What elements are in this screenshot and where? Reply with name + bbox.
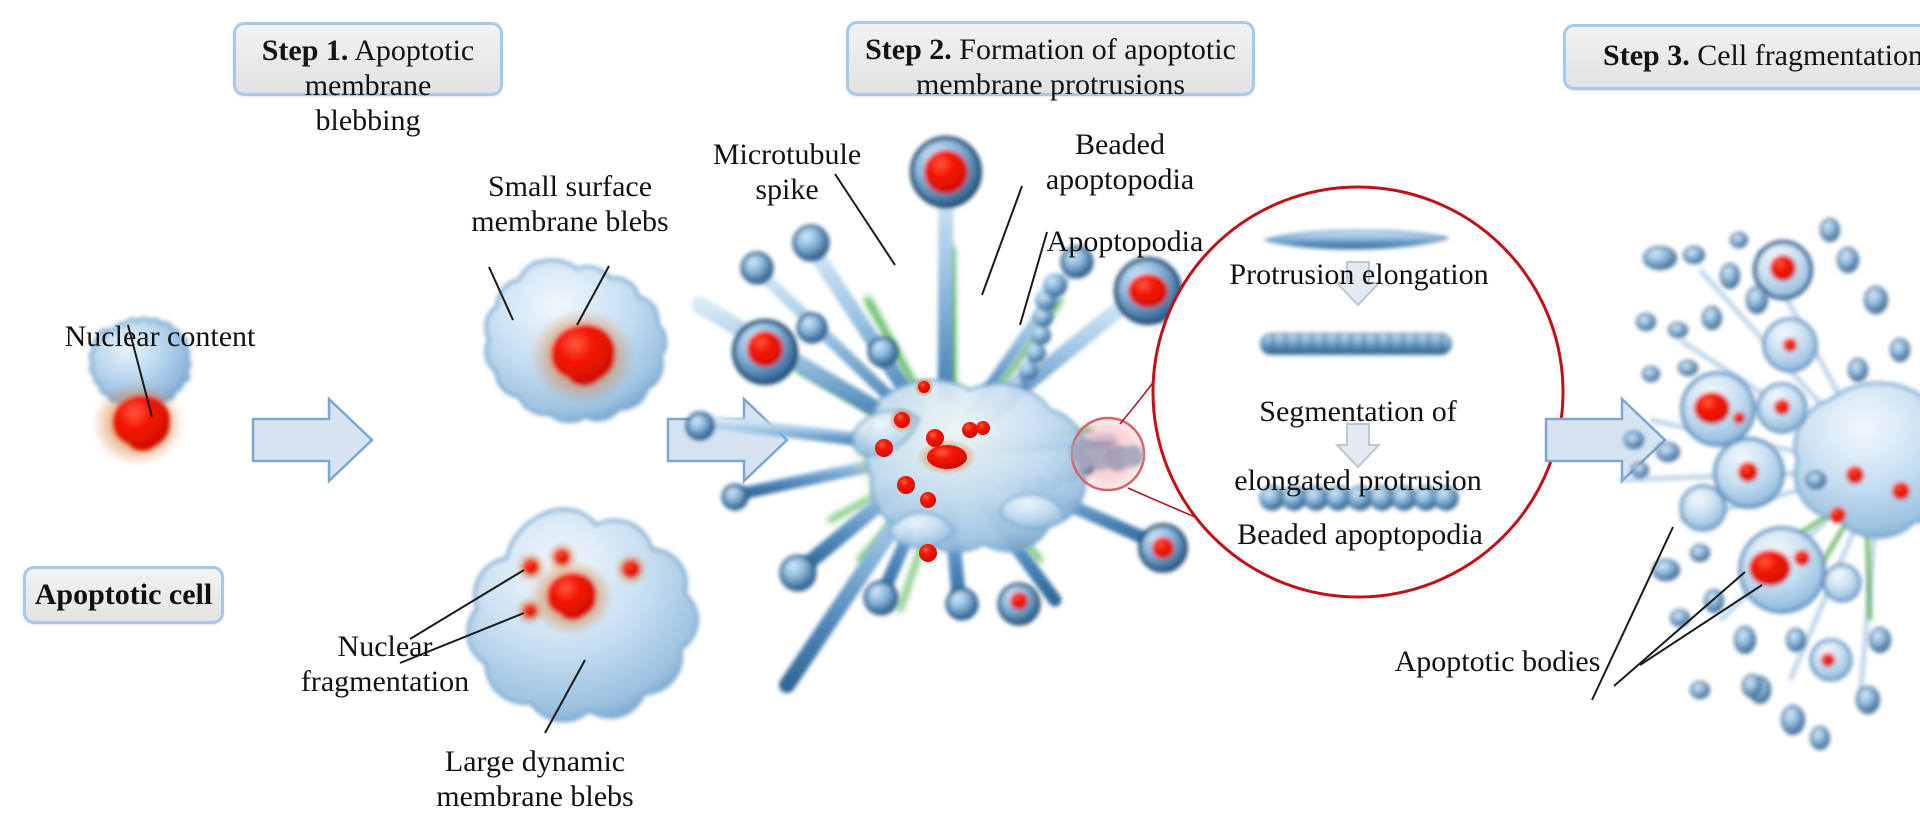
step-2-title-line1: Formation of apoptotic	[959, 33, 1236, 66]
apoptotic-cell-caption[interactable]: Apoptotic cell	[23, 566, 224, 624]
leader-large-blebs	[545, 660, 585, 733]
diagram-artwork	[0, 0, 1920, 828]
inset-highlight-marker	[1070, 418, 1144, 490]
label-beaded-apoptopodia: Beaded apoptopodia	[1030, 128, 1210, 197]
beaded-apoptopodia-strands	[950, 273, 1095, 493]
small-bleb-cell	[486, 260, 666, 421]
flow-arrow-3	[1546, 399, 1665, 481]
step-3-number: Step 3.	[1603, 39, 1690, 72]
step-2-number: Step 2.	[865, 33, 952, 66]
diagram-canvas: Step 1. Apoptotic membrane blebbing Step…	[0, 0, 1920, 828]
label-apoptotic-bodies: Apoptotic bodies	[1385, 645, 1610, 680]
apoptopodia-cell-body	[853, 380, 1085, 551]
fragmented-cell-bodies	[1620, 219, 1920, 749]
label-nuclear-content: Nuclear content	[40, 320, 280, 355]
large-bleb-cell	[468, 509, 697, 721]
label-apoptopodia: Apoptopodia	[1040, 225, 1210, 260]
label-small-surface-blebs: Small surface membrane blebs	[465, 170, 675, 239]
label-large-dynamic-blebs: Large dynamic membrane blebs	[425, 745, 645, 814]
leader-apoptotic-bodies-c	[1640, 585, 1762, 665]
step-header-3[interactable]: Step 3. Cell fragmentation	[1563, 24, 1920, 90]
inset-caption-stage-2: Segmentation of elongated protrusion	[1198, 360, 1518, 498]
step-1-title-line1: Apoptotic	[354, 34, 474, 67]
protrusion-tips	[687, 138, 1186, 624]
step-3-title: Cell fragmentation	[1690, 39, 1920, 72]
flow-arrow-2	[668, 399, 787, 481]
core-nuclear-fragments	[875, 377, 990, 562]
label-nuclear-fragmentation: Nuclear fragmentation	[285, 630, 485, 699]
step-1-title-line2: membrane blebbing	[305, 69, 432, 137]
inset-caption-stage-3: Beaded apoptopodia	[1200, 518, 1520, 553]
leader-small-blebs-b	[577, 266, 609, 325]
leader-apoptotic-bodies-b	[1614, 572, 1745, 686]
step-header-2[interactable]: Step 2. Formation of apoptotic membrane …	[846, 21, 1255, 96]
step-2-title-line2: membrane protrusions	[916, 68, 1185, 101]
leader-nuclear-frag-a	[410, 570, 524, 639]
leader-beaded-apoptopodia	[982, 186, 1022, 295]
apoptopodia-cell	[687, 138, 1186, 685]
step-1-number: Step 1.	[262, 34, 349, 67]
inset-stage-2-graphic	[1261, 334, 1451, 354]
inset-caption-stage-2-line1: Segmentation of	[1259, 395, 1456, 428]
inset-stage-1-graphic	[1266, 231, 1448, 249]
flow-arrow-1	[253, 399, 372, 481]
microtubule-spikes	[800, 250, 1090, 610]
inset-caption-stage-1: Protrusion elongation	[1204, 258, 1514, 293]
leader-small-blebs-a	[489, 267, 513, 320]
step-header-1[interactable]: Step 1. Apoptotic membrane blebbing	[233, 22, 503, 96]
nuclear-fragments	[516, 542, 647, 625]
label-microtubule-spike: Microtubule spike	[702, 138, 872, 207]
inset-caption-stage-2-line2: elongated protrusion	[1234, 464, 1481, 497]
